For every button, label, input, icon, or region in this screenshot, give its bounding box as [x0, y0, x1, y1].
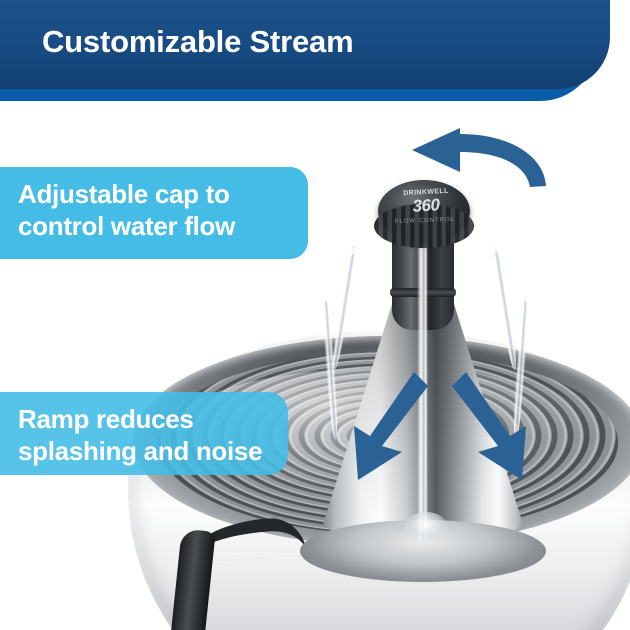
- water-flow-down-left-arrow: [352, 372, 428, 480]
- rotate-cap-arrow: [378, 126, 550, 188]
- page-title: Customizable Stream: [42, 24, 353, 60]
- water-splash: [404, 512, 448, 542]
- callout-adjustable-cap-line2: control water flow: [18, 211, 282, 243]
- water-flow-down-right-arrow: [452, 372, 528, 480]
- cap-model-label: 360: [396, 194, 457, 217]
- callout-ramp-reduces-line1: Ramp reduces: [18, 404, 262, 436]
- callout-ramp-reduces-line2: splashing and noise: [18, 436, 262, 468]
- product-infographic: DRINKWELL 360 FLOW CONTROL Customizable …: [0, 0, 630, 630]
- callout-ramp-reduces: Ramp reduces splashing and noise: [0, 392, 288, 475]
- callout-adjustable-cap-line1: Adjustable cap to: [18, 179, 282, 211]
- callout-adjustable-cap: Adjustable cap to control water flow: [0, 167, 308, 259]
